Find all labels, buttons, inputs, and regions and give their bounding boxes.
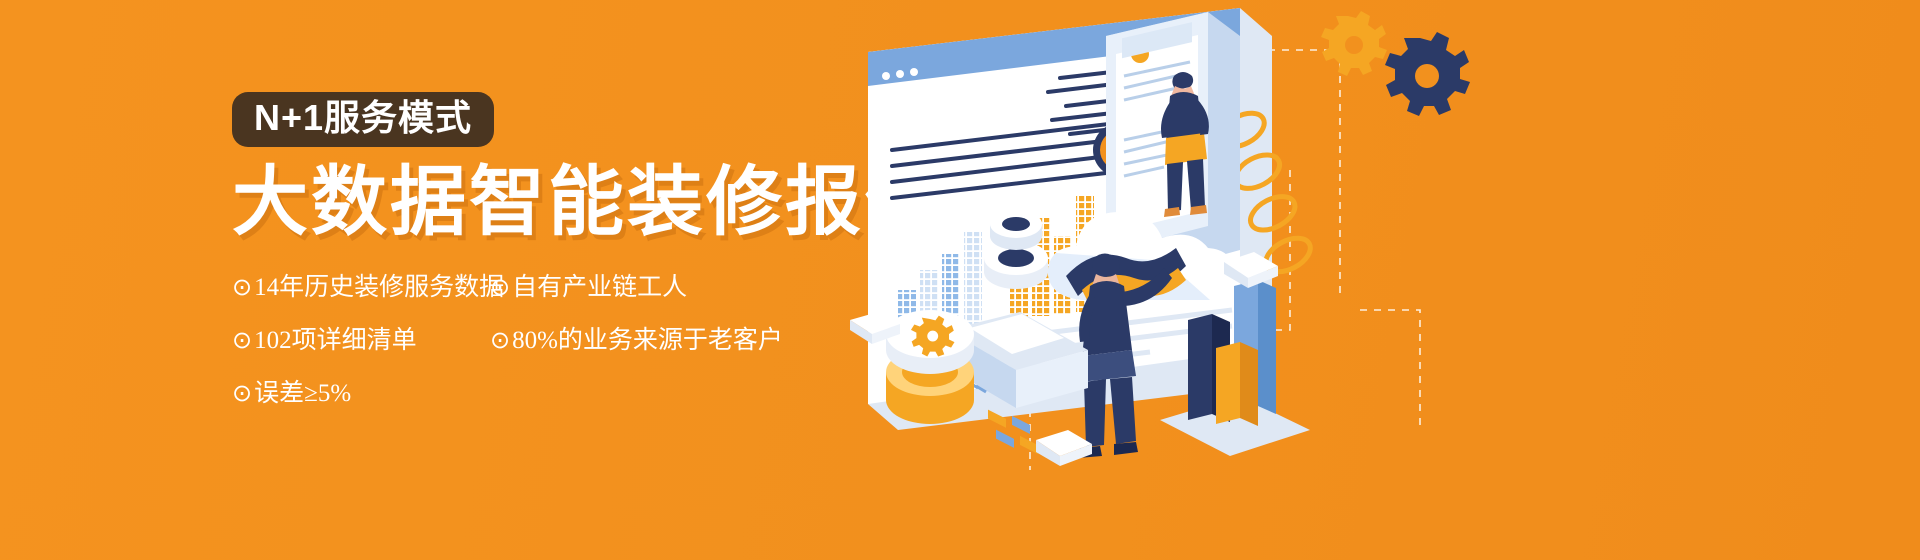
gear-navy	[1385, 32, 1470, 116]
list-item: ⊙102项详细清单	[232, 328, 490, 353]
list-item-label: 误差≥5%	[254, 380, 351, 407]
bullet-column-right: ⊙自有产业链工人 ⊙80%的业务来源于老客户	[490, 275, 783, 434]
bullet-marker-icon: ⊙	[490, 328, 510, 354]
list-item: ⊙14年历史装修服务数据	[232, 275, 490, 300]
coin-stack-small	[984, 210, 1048, 289]
list-item-label: 102项详细清单	[254, 327, 417, 354]
bullet-marker-icon: ⊙	[232, 381, 252, 407]
list-item: ⊙80%的业务来源于老客户	[490, 328, 783, 353]
bullet-marker-icon: ⊙	[232, 275, 252, 301]
list-item: ⊙误差≥5%	[232, 381, 490, 406]
service-model-badge: N+1服务模式	[232, 92, 494, 147]
gear-orange	[1321, 11, 1387, 76]
promo-banner: N+1服务模式 大数据智能装修报价 ⊙14年历史装修服务数据 ⊙102项详细清单…	[0, 0, 1920, 560]
list-item-label: 14年历史装修服务数据	[254, 274, 504, 301]
bullet-column-left: ⊙14年历史装修服务数据 ⊙102项详细清单 ⊙误差≥5%	[232, 275, 490, 434]
list-item-label: 自有产业链工人	[512, 274, 687, 301]
list-item-label: 80%的业务来源于老客户	[512, 327, 783, 354]
hero-illustration	[820, 0, 1920, 560]
bullet-marker-icon: ⊙	[232, 328, 252, 354]
list-item: ⊙自有产业链工人	[490, 275, 783, 300]
bullet-marker-icon: ⊙	[490, 275, 510, 301]
